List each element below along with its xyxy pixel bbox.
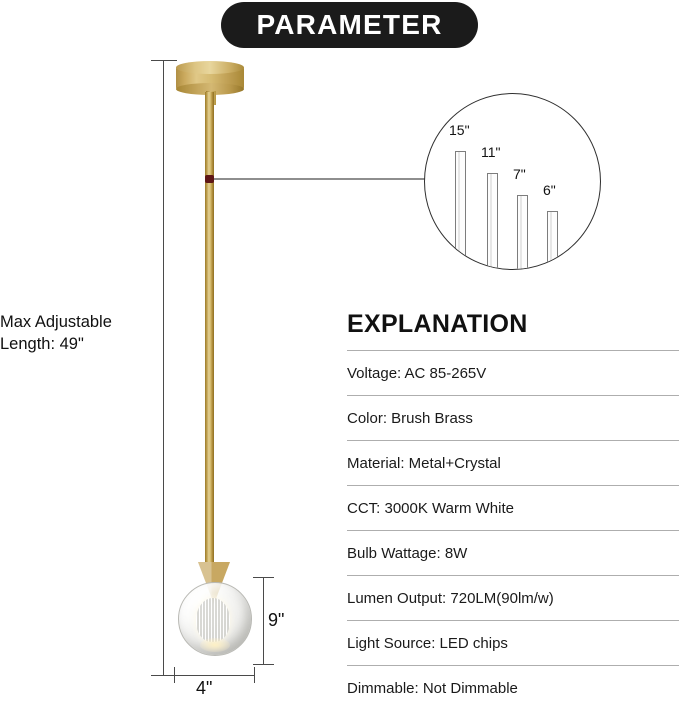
- globe-width-dimension-line: [174, 675, 254, 676]
- canopy-top-ellipse: [176, 61, 244, 74]
- callout-leader-line: [212, 178, 427, 180]
- product-parameter-diagram: PARAMETER Max Adjustable Length: 49" 15"…: [0, 0, 679, 702]
- led-filament: [196, 598, 230, 642]
- specification-row: Lumen Output: 720LM(90lm/w): [347, 576, 679, 621]
- specification-row: Dimmable: Not Dimmable: [347, 666, 679, 702]
- ceiling-canopy: [176, 61, 244, 94]
- max-length-line-1: Max Adjustable: [0, 311, 158, 333]
- max-length-tick-top: [151, 60, 177, 61]
- parameter-badge: PARAMETER: [221, 2, 478, 48]
- specification-row: Light Source: LED chips: [347, 621, 679, 666]
- globe-height-tick-top: [253, 577, 274, 578]
- rod-length-bar: [487, 173, 498, 269]
- rod-length-callout-circle: 15"11"7"6": [424, 93, 601, 270]
- rod-length-bar: [455, 151, 466, 269]
- rod-length-bar: [517, 195, 528, 269]
- specification-row: CCT: 3000K Warm White: [347, 486, 679, 531]
- globe-height-dimension-line: [263, 577, 264, 664]
- parameter-badge-label: PARAMETER: [256, 11, 442, 39]
- explanation-title: EXPLANATION: [347, 310, 679, 350]
- globe-width-tick-right: [254, 667, 255, 683]
- globe-height-label: 9": [268, 610, 284, 631]
- explanation-section: EXPLANATION Voltage: AC 85-265VColor: Br…: [347, 310, 679, 702]
- brass-rod: [205, 92, 214, 575]
- rod-length-label: 15": [449, 122, 470, 138]
- max-length-line-2: Length: 49": [0, 333, 158, 355]
- crystal-globe-shade: [170, 560, 258, 670]
- specification-row: Voltage: AC 85-265V: [347, 351, 679, 396]
- max-length-dimension-line: [163, 60, 164, 675]
- callout-marker: [205, 175, 214, 183]
- globe-height-tick-bottom: [253, 664, 274, 665]
- globe-width-label: 4": [196, 678, 212, 699]
- rod-length-label: 6": [543, 182, 556, 198]
- specification-table: Voltage: AC 85-265VColor: Brush BrassMat…: [347, 350, 679, 702]
- specification-row: Material: Metal+Crystal: [347, 441, 679, 486]
- max-length-label: Max Adjustable Length: 49": [0, 311, 158, 355]
- specification-row: Bulb Wattage: 8W: [347, 531, 679, 576]
- light-glow: [200, 638, 230, 652]
- rod-length-label: 7": [513, 166, 526, 182]
- globe-width-tick-left: [174, 667, 175, 683]
- rod-length-bar: [547, 211, 558, 269]
- rod-length-label: 11": [481, 144, 501, 160]
- specification-row: Color: Brush Brass: [347, 396, 679, 441]
